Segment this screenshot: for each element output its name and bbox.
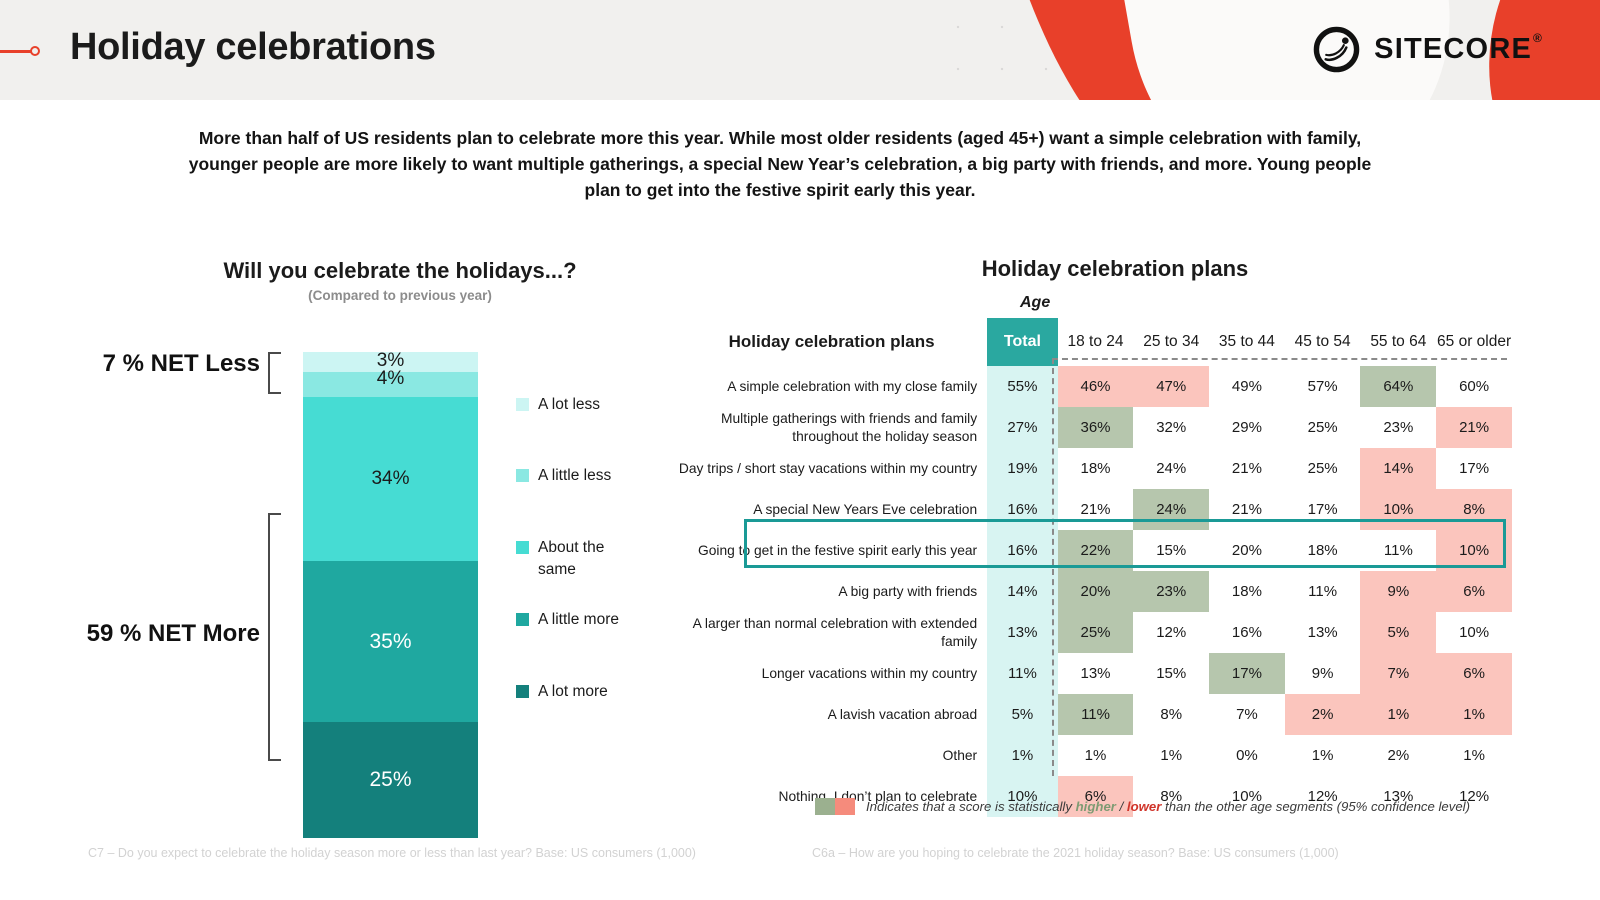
cell-age-5: 1% bbox=[1436, 694, 1512, 735]
row-label: Other bbox=[676, 735, 987, 776]
cell-age-2: 21% bbox=[1209, 489, 1285, 530]
legend-swatch-icon bbox=[516, 469, 529, 482]
cell-age-3: 13% bbox=[1285, 612, 1361, 653]
legend-swatch-icon bbox=[516, 541, 529, 554]
net-less-brace bbox=[268, 352, 281, 394]
bar-value-a-lot-more: 25% bbox=[369, 768, 411, 792]
cell-age-0: 36% bbox=[1058, 407, 1134, 448]
registered-mark: ® bbox=[1533, 31, 1543, 45]
cell-total: 1% bbox=[987, 735, 1058, 776]
bar-value-a-little-more: 35% bbox=[369, 630, 411, 654]
cell-age-4: 7% bbox=[1360, 653, 1436, 694]
sig-sep: / bbox=[1116, 799, 1127, 814]
significance-legend: Indicates that a score is statistically … bbox=[815, 798, 1470, 815]
sig-pre: Indicates that a score is statistically bbox=[866, 799, 1076, 814]
cell-age-2: 49% bbox=[1209, 366, 1285, 407]
sig-lower: lower bbox=[1127, 799, 1161, 814]
sitecore-wordmark: SITECORE ® bbox=[1374, 33, 1532, 66]
cell-age-2: 29% bbox=[1209, 407, 1285, 448]
cell-age-1: 24% bbox=[1133, 489, 1209, 530]
cell-age-2: 17% bbox=[1209, 653, 1285, 694]
table-row[interactable]: Multiple gatherings with friends and fam… bbox=[676, 407, 1512, 448]
legend-swatch-icon bbox=[516, 398, 529, 411]
cell-age-3: 25% bbox=[1285, 448, 1361, 489]
cell-age-5: 6% bbox=[1436, 653, 1512, 694]
cell-age-0: 22% bbox=[1058, 530, 1134, 571]
slide-header: Holiday celebrations SITECORE ® bbox=[0, 0, 1600, 100]
cell-age-1: 1% bbox=[1133, 735, 1209, 776]
legend-label: A little more bbox=[538, 609, 619, 631]
intro-paragraph: More than half of US residents plan to c… bbox=[185, 126, 1375, 204]
sig-post: than the other age segments (95% confide… bbox=[1161, 799, 1470, 814]
cell-age-0: 46% bbox=[1058, 366, 1134, 407]
cell-age-0: 18% bbox=[1058, 448, 1134, 489]
significance-note-text: Indicates that a score is statistically … bbox=[866, 799, 1470, 814]
cell-age-3: 18% bbox=[1285, 530, 1361, 571]
cell-age-3: 9% bbox=[1285, 653, 1361, 694]
sitecore-mark-icon bbox=[1313, 26, 1360, 73]
cell-total: 14% bbox=[987, 571, 1058, 612]
cell-age-4: 9% bbox=[1360, 571, 1436, 612]
slide-root: Holiday celebrations SITECORE ® More tha… bbox=[0, 0, 1600, 900]
footnote-right: C6a – How are you hoping to celebrate th… bbox=[812, 846, 1339, 860]
row-label: Day trips / short stay vacations within … bbox=[676, 448, 987, 489]
age-group-label: Age bbox=[1020, 294, 1050, 312]
cell-age-1: 32% bbox=[1133, 407, 1209, 448]
cell-age-4: 11% bbox=[1360, 530, 1436, 571]
bar-segment-a-lot-more: 25% bbox=[303, 722, 478, 838]
legend-swatch-icon bbox=[516, 685, 529, 698]
title-bullet-icon bbox=[0, 46, 46, 56]
cell-age-0: 1% bbox=[1058, 735, 1134, 776]
cell-age-0: 11% bbox=[1058, 694, 1134, 735]
cell-age-4: 23% bbox=[1360, 407, 1436, 448]
column-header-plans: Holiday celebration plans bbox=[676, 318, 987, 366]
cell-age-5: 6% bbox=[1436, 571, 1512, 612]
table-row[interactable]: A special New Years Eve celebration16%21… bbox=[676, 489, 1512, 530]
cell-age-1: 47% bbox=[1133, 366, 1209, 407]
cell-age-2: 20% bbox=[1209, 530, 1285, 571]
age-section-divider-horizontal bbox=[1052, 358, 1507, 360]
cell-age-4: 10% bbox=[1360, 489, 1436, 530]
cell-total: 16% bbox=[987, 530, 1058, 571]
column-header-total: Total bbox=[987, 318, 1058, 366]
stacked-bar-chart: 34% 35% 25% bbox=[303, 352, 478, 758]
cell-total: 27% bbox=[987, 407, 1058, 448]
cell-age-1: 15% bbox=[1133, 653, 1209, 694]
holiday-plans-table: Holiday celebration plans Total 18 to 24… bbox=[676, 318, 1512, 817]
cell-age-3: 17% bbox=[1285, 489, 1361, 530]
cell-age-4: 64% bbox=[1360, 366, 1436, 407]
legend-label: A lot more bbox=[538, 681, 608, 703]
cell-total: 13% bbox=[987, 612, 1058, 653]
cell-age-0: 13% bbox=[1058, 653, 1134, 694]
cell-age-4: 14% bbox=[1360, 448, 1436, 489]
bar-value-about-the-same: 34% bbox=[371, 468, 409, 490]
cell-age-4: 5% bbox=[1360, 612, 1436, 653]
cell-total: 11% bbox=[987, 653, 1058, 694]
table-row[interactable]: A larger than normal celebration with ex… bbox=[676, 612, 1512, 653]
cell-age-2: 21% bbox=[1209, 448, 1285, 489]
bar-segment-a-little-more: 35% bbox=[303, 561, 478, 722]
cell-age-3: 11% bbox=[1285, 571, 1361, 612]
cell-age-0: 20% bbox=[1058, 571, 1134, 612]
table-row[interactable]: Day trips / short stay vacations within … bbox=[676, 448, 1512, 489]
row-label: Going to get in the festive spirit early… bbox=[676, 530, 987, 571]
cell-age-3: 2% bbox=[1285, 694, 1361, 735]
legend-swatch-icon bbox=[516, 613, 529, 626]
cell-age-5: 10% bbox=[1436, 530, 1512, 571]
cell-age-5: 10% bbox=[1436, 612, 1512, 653]
legend-label: A little less bbox=[538, 465, 611, 487]
legend-item-about-the-same: About the same bbox=[516, 537, 626, 581]
legend-label: About the same bbox=[538, 537, 626, 581]
table-row[interactable]: Other1%1%1%0%1%2%1% bbox=[676, 735, 1512, 776]
row-label: Longer vacations within my country bbox=[676, 653, 987, 694]
cell-age-4: 1% bbox=[1360, 694, 1436, 735]
net-less-label: 7 % NET Less bbox=[60, 350, 260, 378]
row-label: Multiple gatherings with friends and fam… bbox=[676, 407, 987, 448]
cell-age-3: 1% bbox=[1285, 735, 1361, 776]
row-label: A lavish vacation abroad bbox=[676, 694, 987, 735]
cell-age-2: 0% bbox=[1209, 735, 1285, 776]
cell-age-0: 21% bbox=[1058, 489, 1134, 530]
cell-age-4: 2% bbox=[1360, 735, 1436, 776]
net-more-brace bbox=[268, 513, 281, 761]
page-title: Holiday celebrations bbox=[70, 26, 436, 69]
cell-age-2: 16% bbox=[1209, 612, 1285, 653]
legend-item-a-little-more: A little more bbox=[516, 609, 619, 631]
cell-age-3: 57% bbox=[1285, 366, 1361, 407]
legend-item-a-little-less: A little less bbox=[516, 465, 611, 487]
cell-age-0: 25% bbox=[1058, 612, 1134, 653]
cell-age-5: 17% bbox=[1436, 448, 1512, 489]
table-row[interactable]: A big party with friends14%20%23%18%11%9… bbox=[676, 571, 1512, 612]
table-row[interactable]: Going to get in the festive spirit early… bbox=[676, 530, 1512, 571]
table-body: A simple celebration with my close famil… bbox=[676, 366, 1512, 817]
table-row[interactable]: A simple celebration with my close famil… bbox=[676, 366, 1512, 407]
legend-item-a-lot-less: A lot less bbox=[516, 394, 600, 416]
logo-text: SITECORE bbox=[1374, 33, 1532, 65]
cell-age-1: 23% bbox=[1133, 571, 1209, 612]
legend-label: A lot less bbox=[538, 394, 600, 416]
bar-segment-about-the-same: 34% bbox=[303, 397, 478, 561]
left-chart-subtitle: (Compared to previous year) bbox=[90, 288, 710, 303]
cell-total: 5% bbox=[987, 694, 1058, 735]
cell-age-5: 1% bbox=[1436, 735, 1512, 776]
row-label: A big party with friends bbox=[676, 571, 987, 612]
cell-age-3: 25% bbox=[1285, 407, 1361, 448]
table-row[interactable]: A lavish vacation abroad5%11%8%7%2%1%1% bbox=[676, 694, 1512, 735]
row-label: A special New Years Eve celebration bbox=[676, 489, 987, 530]
footnote-left: C7 – Do you expect to celebrate the holi… bbox=[88, 846, 696, 860]
sitecore-logo: SITECORE ® bbox=[1313, 26, 1532, 73]
sig-higher: higher bbox=[1076, 799, 1116, 814]
age-section-divider-vertical bbox=[1052, 358, 1054, 776]
cell-age-5: 8% bbox=[1436, 489, 1512, 530]
cell-age-1: 15% bbox=[1133, 530, 1209, 571]
cell-age-5: 21% bbox=[1436, 407, 1512, 448]
table-row[interactable]: Longer vacations within my country11%13%… bbox=[676, 653, 1512, 694]
net-more-label: 59 % NET More bbox=[30, 620, 260, 648]
legend-item-a-lot-more: A lot more bbox=[516, 681, 608, 703]
row-label: A larger than normal celebration with ex… bbox=[676, 612, 987, 653]
left-chart-title: Will you celebrate the holidays...? bbox=[90, 258, 710, 284]
bar-value-a-little-less: 4% bbox=[303, 368, 478, 390]
row-label: A simple celebration with my close famil… bbox=[676, 366, 987, 407]
cell-total: 19% bbox=[987, 448, 1058, 489]
cell-age-1: 24% bbox=[1133, 448, 1209, 489]
significance-red-swatch-icon bbox=[835, 798, 855, 815]
right-table-title: Holiday celebration plans bbox=[760, 256, 1470, 282]
cell-total: 16% bbox=[987, 489, 1058, 530]
cell-age-2: 18% bbox=[1209, 571, 1285, 612]
significance-green-swatch-icon bbox=[815, 798, 835, 815]
cell-age-1: 12% bbox=[1133, 612, 1209, 653]
cell-age-5: 60% bbox=[1436, 366, 1512, 407]
cell-age-1: 8% bbox=[1133, 694, 1209, 735]
cell-total: 55% bbox=[987, 366, 1058, 407]
cell-age-2: 7% bbox=[1209, 694, 1285, 735]
